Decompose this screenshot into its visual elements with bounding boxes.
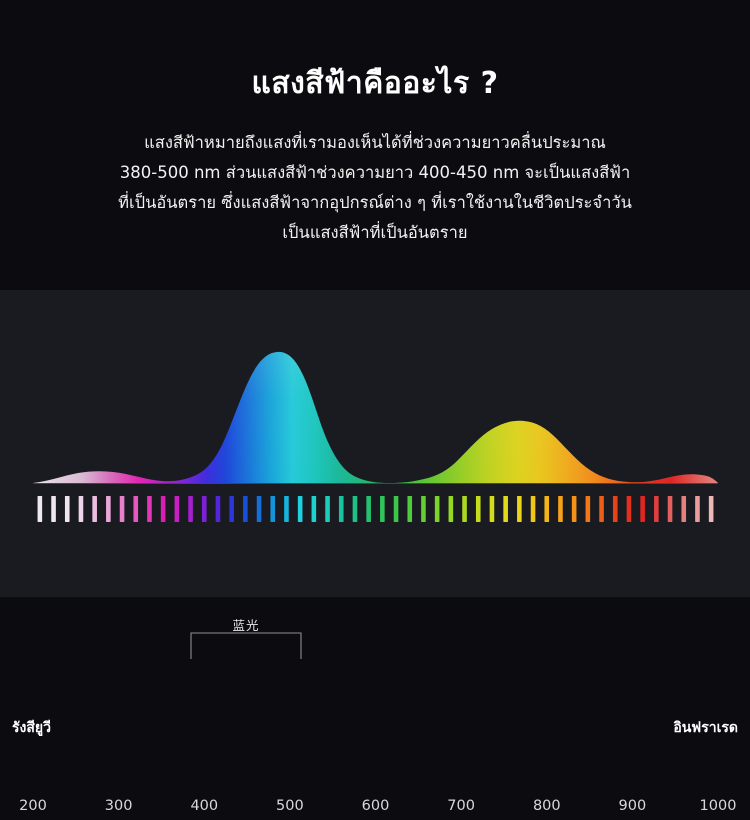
spectrum-dash — [243, 496, 248, 522]
spectrum-dash — [270, 496, 275, 522]
spectrum-dash — [654, 496, 659, 522]
page-title: แสงสีฟ้าคืออะไร ? — [0, 66, 750, 102]
x-tick-label: 900 — [619, 798, 647, 814]
spectrum-dash — [558, 496, 563, 522]
spectrum-dash — [599, 496, 604, 522]
spectrum-dash — [517, 496, 522, 522]
spectrum-dash — [380, 496, 385, 522]
spectrum-dash — [120, 496, 125, 522]
spectrum-dash — [586, 496, 591, 522]
spectrum-dash — [353, 496, 358, 522]
spectrum-dash — [476, 496, 481, 522]
spectrum-dash — [312, 496, 317, 522]
x-tick-label: 800 — [533, 798, 561, 814]
spectrum-dash — [92, 496, 97, 522]
spectrum-dash — [695, 496, 700, 522]
spectrum-dash — [79, 496, 84, 522]
spectrum-dash — [668, 496, 673, 522]
x-tick-label: 300 — [105, 798, 133, 814]
x-tick-label: 600 — [362, 798, 390, 814]
spectrum-dash — [449, 496, 454, 522]
spectrum-dash — [133, 496, 138, 522]
spectrum-dash — [709, 496, 714, 522]
spectrum-dash — [65, 496, 70, 522]
spectrum-dash — [339, 496, 344, 522]
spectrum-dash — [613, 496, 618, 522]
spectrum-dash — [51, 496, 56, 522]
x-tick-label: 700 — [447, 798, 475, 814]
blue-light-band-label: 蓝光 — [190, 619, 302, 633]
spectrum-dash — [257, 496, 262, 522]
blue-light-bracket — [190, 632, 302, 660]
spectrum-chart-panel: 蓝光 รังสียูวี อินฟราเรด 20030040050060070… — [0, 290, 750, 597]
spectrum-dash — [407, 496, 412, 522]
x-tick-label: 1000 — [700, 798, 737, 814]
spectrum-dash — [681, 496, 686, 522]
spectrum-dash — [627, 496, 632, 522]
x-axis-tick-labels: 2003004005006007008009001000 — [0, 798, 750, 820]
spectrum-dash — [298, 496, 303, 522]
intro-line-2: 380-500 nm ส่วนแสงสีฟ้าช่วงความยาว 400-4… — [60, 158, 690, 188]
spectrum-dash — [229, 496, 234, 522]
spectrum-dash — [490, 496, 495, 522]
spectrum-dash — [394, 496, 399, 522]
spectrum-color-bar — [38, 496, 714, 522]
spectrum-dash — [202, 496, 207, 522]
x-tick-label: 400 — [190, 798, 218, 814]
spectrum-dash — [216, 496, 221, 522]
spectrum-dash — [462, 496, 467, 522]
intro-line-4: เป็นแสงสีฟ้าที่เป็นอันตราย — [60, 218, 690, 248]
spectrum-dash — [106, 496, 111, 522]
spectral-curve — [0, 290, 750, 597]
spectrum-dash — [188, 496, 193, 522]
spectrum-dash — [147, 496, 152, 522]
intro-line-1: แสงสีฟ้าหมายถึงแสงที่เรามองเห็นได้ที่ช่ว… — [60, 128, 690, 158]
spectrum-dash — [572, 496, 577, 522]
spectrum-dash — [366, 496, 371, 522]
spectrum-dash — [175, 496, 180, 522]
spectrum-dash — [435, 496, 440, 522]
spectrum-dash — [38, 496, 43, 522]
infrared-label: อินฟราเรด — [673, 717, 738, 739]
spectrum-dash — [284, 496, 289, 522]
header-section: แสงสีฟ้าคืออะไร ? แสงสีฟ้าหมายถึงแสงที่เ… — [0, 0, 750, 290]
x-tick-label: 500 — [276, 798, 304, 814]
spectrum-dash — [531, 496, 536, 522]
spectrum-dash — [325, 496, 330, 522]
spectrum-dash — [161, 496, 166, 522]
spectrum-dash — [544, 496, 549, 522]
spectrum-dash — [503, 496, 508, 522]
uv-label: รังสียูวี — [12, 717, 51, 739]
x-tick-label: 200 — [19, 798, 47, 814]
intro-paragraph: แสงสีฟ้าหมายถึงแสงที่เรามองเห็นได้ที่ช่ว… — [60, 128, 690, 248]
spectrum-dash — [640, 496, 645, 522]
spectrum-curve-chart — [0, 290, 750, 597]
spectrum-dash — [421, 496, 426, 522]
intro-line-3: ที่เป็นอันตราย ซึ่งแสงสีฟ้าจากอุปกรณ์ต่า… — [60, 188, 690, 218]
